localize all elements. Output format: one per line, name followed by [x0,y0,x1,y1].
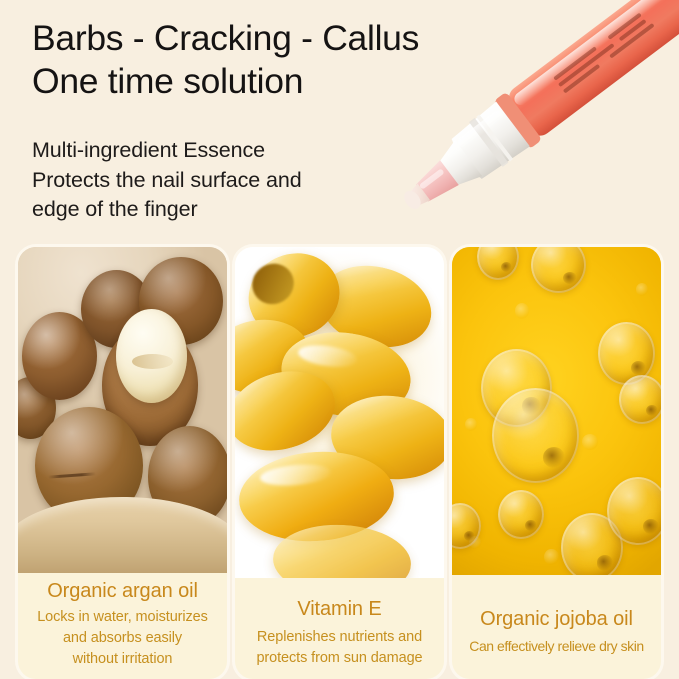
caption-jojoba: Organic jojoba oil Can effectively relie… [452,575,661,679]
subheading: Multi-ingredient Essence Protects the na… [32,136,432,225]
caption-desc-line: without irritation [24,649,221,670]
oil-bubble [619,375,661,424]
ingredient-card-argan: Organic argan oil Locks in water, moistu… [18,247,227,679]
caption-title: Vitamin E [241,578,438,622]
oil-bubble [531,247,585,293]
subheading-line-3: edge of the finger [32,195,432,225]
ingredient-card-jojoba: Organic jojoba oil Can effectively relie… [452,247,661,679]
caption-description: Can effectively relieve dry skin [458,632,655,657]
oil-speck [465,418,478,431]
capsules-scene [235,247,444,578]
oil-speck [636,283,649,296]
caption-argan: Organic argan oil Locks in water, moistu… [18,573,227,679]
wooden-bowl [18,497,227,573]
subheading-line-2: Protects the nail surface and [32,166,432,196]
caption-vitamin-e: Vitamin E Replenishes nutrients and prot… [235,578,444,679]
oil-speck [582,434,599,450]
caption-desc-line: Can effectively relieve dry skin [458,636,655,657]
golden-oil-bubbles-photo [452,247,661,575]
caption-desc-line: Locks in water, moisturizes [24,607,221,628]
caption-title: Organic argan oil [24,573,221,604]
oil-speck [515,303,530,319]
caption-desc-line: protects from sun damage [241,648,438,669]
barrel-label-text-decorative [553,10,654,93]
caption-desc-line: Replenishes nutrients and [241,627,438,648]
headline-line-1: Barbs - Cracking - Callus [32,18,419,58]
header-section: Barbs - Cracking - Callus One time solut… [0,0,679,240]
caption-title: Organic jojoba oil [458,575,655,632]
caption-description: Locks in water, moisturizes and absorbs … [24,604,221,670]
page-title: Barbs - Cracking - Callus One time solut… [32,17,552,103]
ingredient-card-vitamin-e: Vitamin E Replenishes nutrients and prot… [235,247,444,679]
oil-speck [544,549,559,565]
subheading-line-1: Multi-ingredient Essence [32,136,432,166]
macadamia-nuts-photo [18,247,227,573]
oil-scene [452,247,661,575]
oil-bubble [477,247,519,280]
headline-line-2: One time solution [32,60,552,103]
softgel-capsules-photo [235,247,444,578]
oil-bubble [492,388,580,483]
nuts-scene [18,247,227,573]
oil-bubble [498,490,544,539]
ingredient-cards-row: Organic argan oil Locks in water, moistu… [0,247,679,679]
caption-description: Replenishes nutrients and protects from … [241,622,438,669]
nut-kernel [116,309,187,404]
product-infographic-poster: Barbs - Cracking - Callus One time solut… [0,0,679,679]
nut-crack-line [48,472,96,478]
caption-desc-line: and absorbs easily [24,628,221,649]
